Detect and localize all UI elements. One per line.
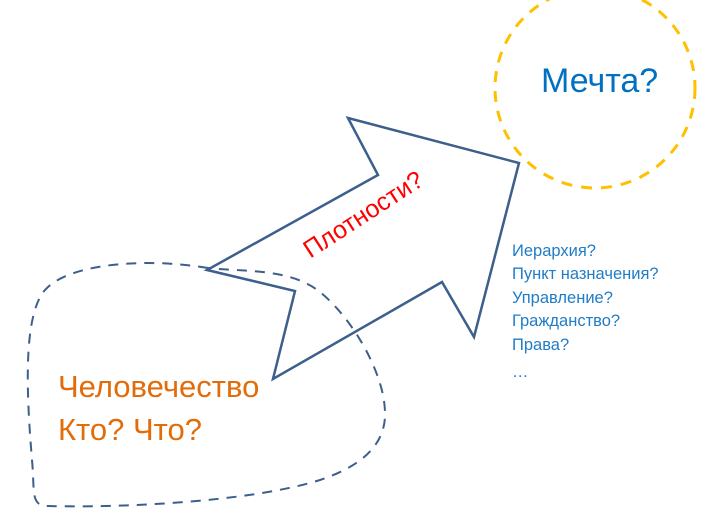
dream-label: Мечта? bbox=[541, 64, 658, 98]
question-item-rights: Права? bbox=[512, 334, 659, 357]
humanity-label: Человечество bbox=[58, 371, 259, 402]
question-list: Иерархия? Пункт назначения? Управление? … bbox=[512, 240, 659, 388]
block-arrow-shape bbox=[207, 118, 519, 379]
who-what-label: Кто? Что? bbox=[58, 414, 202, 445]
question-item-destination: Пункт назначения? bbox=[512, 263, 659, 286]
question-item-ellipsis: … bbox=[512, 357, 659, 388]
question-item-citizenship: Гражданство? bbox=[512, 310, 659, 333]
question-item-governance: Управление? bbox=[512, 287, 659, 310]
question-item-hierarchy: Иерархия? bbox=[512, 240, 659, 263]
diagram-canvas: Мечта? Человечество Кто? Что? Плотности?… bbox=[0, 0, 701, 523]
